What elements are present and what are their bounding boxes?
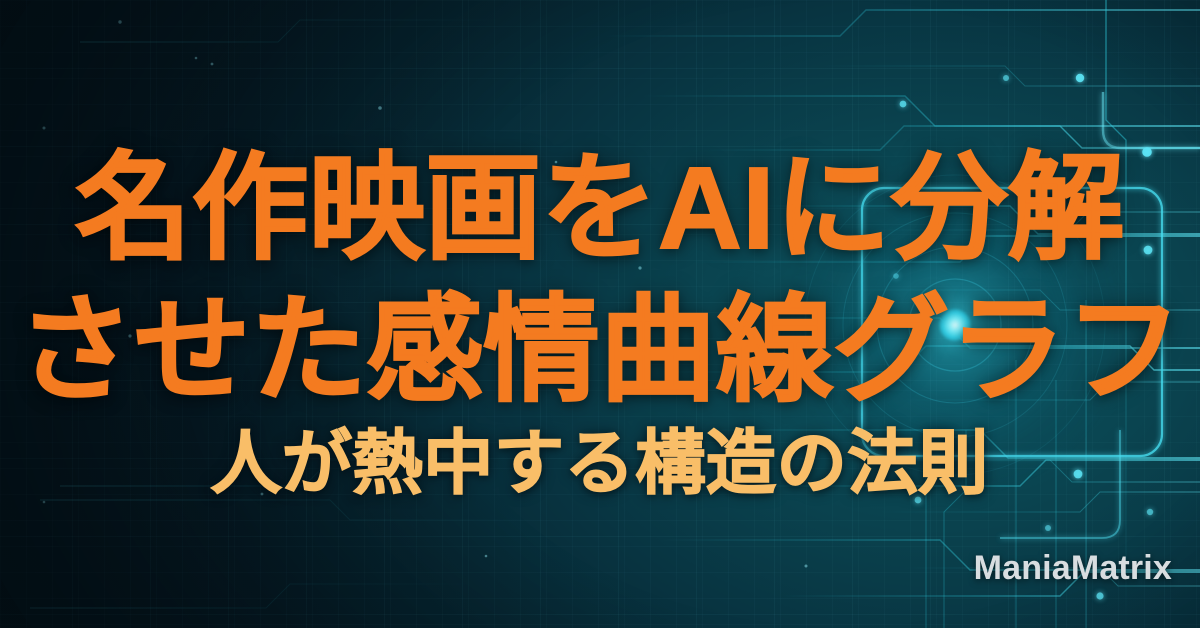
brand-logo-text: ManiaMatrix: [974, 549, 1172, 588]
thumbnail-canvas: 名作映画をAIに分解 させた感情曲線グラフ 人が熱中する構造の法則 ManiaM…: [0, 0, 1200, 628]
headline-line-2: させた感情曲線グラフ: [0, 292, 1200, 408]
subtitle: 人が熱中する構造の法則: [0, 428, 1200, 498]
headline-line-1: 名作映画をAIに分解: [0, 150, 1200, 266]
